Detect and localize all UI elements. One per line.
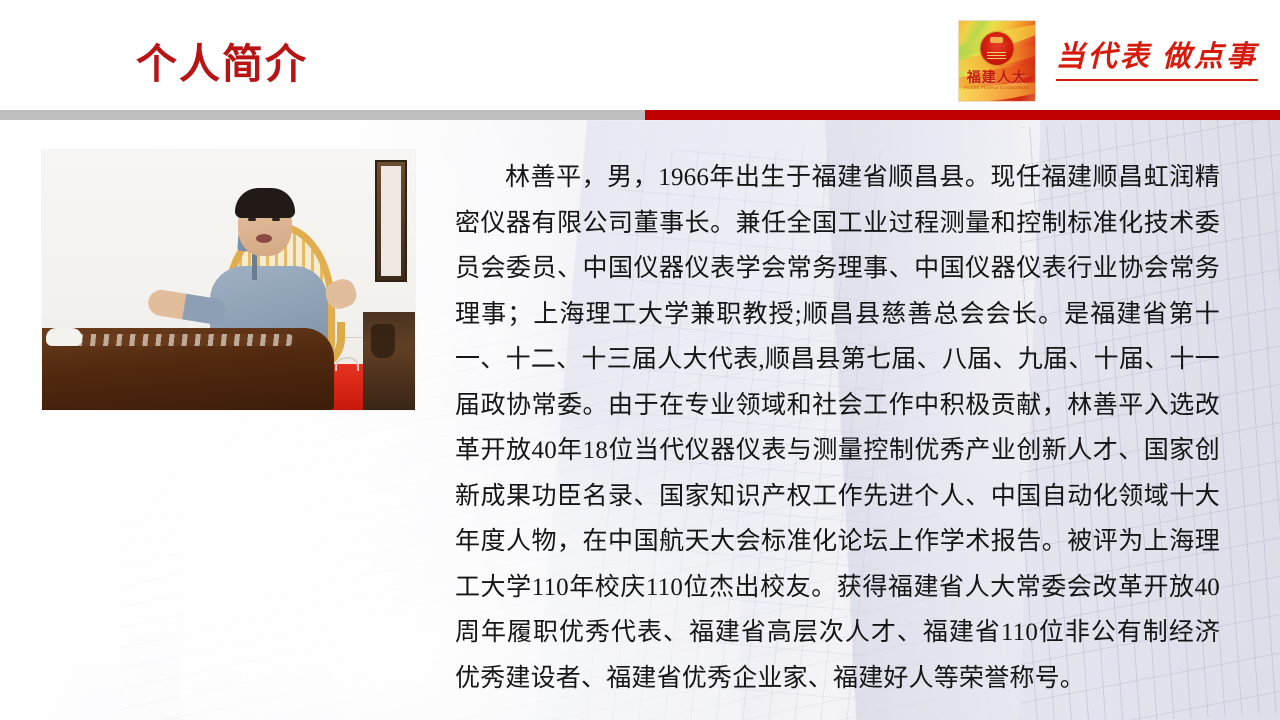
header-divider-bar: [0, 110, 1280, 120]
divider-segment-red: [645, 110, 1280, 120]
person-mouth: [256, 234, 272, 243]
slide-canvas: 个人简介 福建人大 FUJIAN PEOPLE'S CONGRESS 当代表 做…: [0, 0, 1280, 720]
divider-segment-gray: [0, 110, 645, 120]
person-eye-right: [272, 218, 280, 221]
photo-wood-cabinet: [363, 312, 415, 410]
national-emblem-icon: [980, 32, 1013, 65]
person-eye-left: [248, 218, 256, 221]
person-hair: [235, 188, 295, 218]
logo-chinese-text: 福建人大: [959, 67, 1035, 87]
page-title: 个人简介: [136, 44, 308, 85]
brand-slogan: 当代表 做点事: [1056, 41, 1258, 80]
photo-picture-frame: [375, 160, 407, 282]
brand-block: 福建人大 FUJIAN PEOPLE'S CONGRESS 当代表 做点事: [958, 20, 1266, 102]
biography-paragraph: 林善平，男，1966年出生于福建省顺昌县。现任福建顺昌虹润精密仪器有限公司董事长…: [455, 155, 1220, 701]
photo-tea-set: [46, 328, 82, 346]
portrait-photo: [42, 150, 415, 410]
logo-pinyin-text: FUJIAN PEOPLE'S CONGRESS: [959, 85, 1035, 90]
fujian-renda-emblem-logo-icon: 福建人大 FUJIAN PEOPLE'S CONGRESS: [958, 20, 1036, 102]
slide-header: 个人简介 福建人大 FUJIAN PEOPLE'S CONGRESS 当代表 做…: [0, 0, 1280, 110]
photo-root-carving-tea-table: [42, 328, 334, 410]
